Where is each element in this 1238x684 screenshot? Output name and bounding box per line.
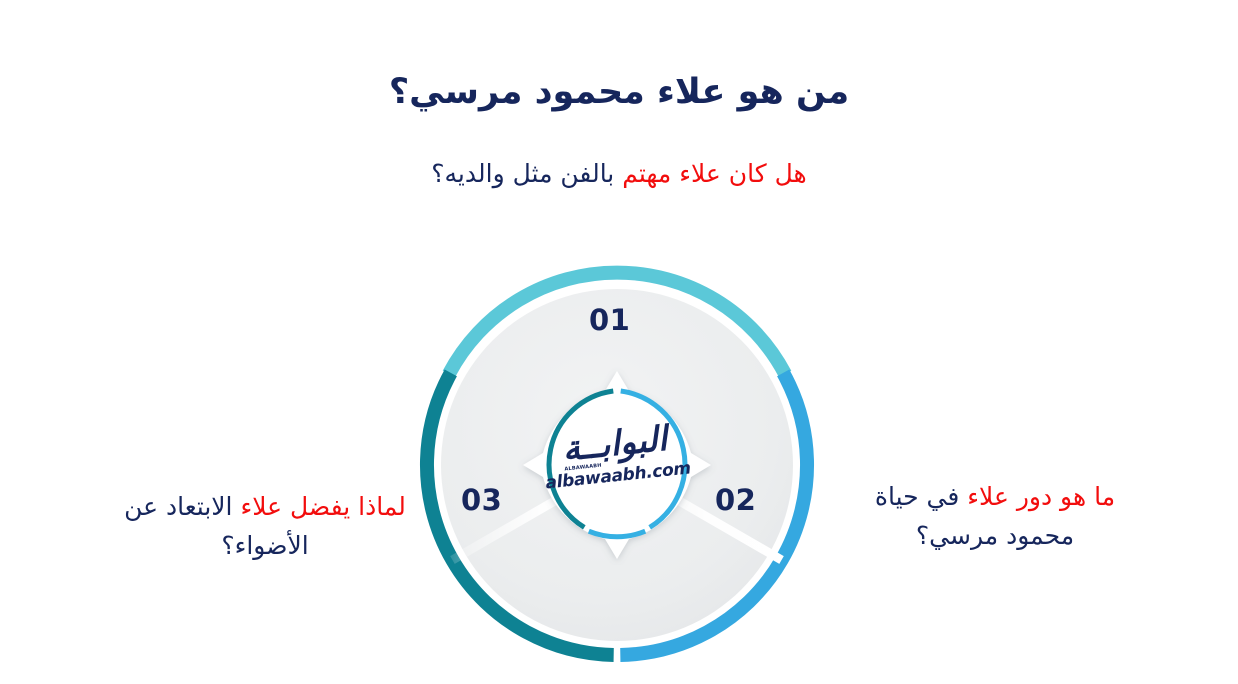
callout-01-rest: بالفن مثل والديه؟ (431, 159, 622, 188)
callout-label-02: ما هو دور علاء في حياة محمود مرسي؟ (845, 478, 1145, 556)
logo-text-group: البوابــة ALBAWAABH albawaabh.com (507, 355, 727, 575)
callout-01-highlight: هل كان علاء مهتم (622, 159, 807, 188)
callout-03-highlight: لماذا يفضل علاء (240, 492, 405, 521)
page-title: من هو علاء محمود مرسي؟ (0, 71, 1238, 113)
donut-segment-label-03: 03 (461, 483, 502, 517)
center-logo-badge: البوابــة ALBAWAABH albawaabh.com (517, 365, 717, 565)
callout-label-01: هل كان علاء مهتم بالفن مثل والديه؟ (369, 155, 869, 194)
donut-chart: 01 02 03 البوابــة ALBAWAABH albawaabh.c… (417, 265, 817, 665)
callout-02-highlight: ما هو دور علاء (967, 482, 1115, 511)
callout-label-03: لماذا يفضل علاء الابتعاد عن الأضواء؟ (105, 488, 425, 566)
donut-segment-label-01: 01 (589, 303, 630, 337)
